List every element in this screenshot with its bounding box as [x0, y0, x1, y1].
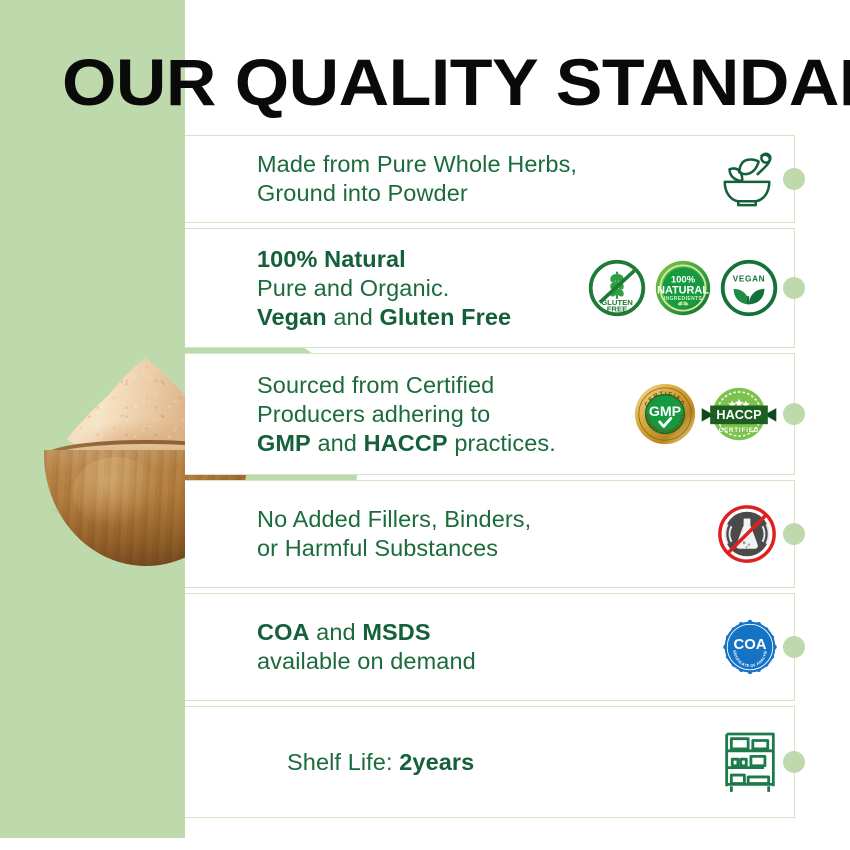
gmp-certified-badge: CERTIFIED GOOD MANUFACTURING PRACTICE GM…: [634, 383, 696, 445]
row1-line1: Made from Pure Whole Herbs,: [257, 151, 577, 177]
row5-and: and: [310, 619, 363, 645]
list-item-certified-producers: Sourced from Certified Producers adherin…: [185, 353, 795, 475]
haccp-certified-badge: HACCP CERTIFIED: [700, 383, 778, 445]
infographic-canvas: OUR QUALITY STANDARDS Made from Pure Who…: [0, 0, 850, 850]
row3-gmp: GMP: [257, 430, 311, 456]
row-text-no-fillers: No Added Fillers, Binders, or Harmful Su…: [257, 505, 716, 563]
page-title: OUR QUALITY STANDARDS: [62, 50, 850, 114]
row-text-pure-whole-herbs: Made from Pure Whole Herbs, Ground into …: [257, 150, 716, 208]
row-text-certified: Sourced from Certified Producers adherin…: [257, 371, 634, 458]
row1-icons: [716, 148, 784, 210]
svg-text:COA: COA: [733, 637, 766, 653]
row-end-dot: [783, 523, 805, 545]
row2-badges: GLUTEN FREE 100% NATURAL: [588, 259, 784, 317]
row5-badges: COA CERTIFICATE OF ANALYSIS: [722, 619, 784, 675]
row4-icons: [716, 503, 784, 565]
svg-text:HACCP: HACCP: [716, 407, 762, 422]
row-end-dot: [783, 168, 805, 190]
row-text-shelf-life: Shelf Life: 2years: [257, 748, 722, 777]
gluten-free-badge: GLUTEN FREE: [588, 259, 646, 317]
svg-text:FREE: FREE: [607, 305, 628, 314]
list-item-pure-whole-herbs: Made from Pure Whole Herbs, Ground into …: [185, 135, 795, 223]
svg-text:INGREDIENTS: INGREDIENTS: [664, 296, 703, 302]
list-item-natural-vegan-gluten-free: 100% Natural Pure and Organic. Vegan and…: [185, 228, 795, 348]
svg-text:CERTIFIED: CERTIFIED: [719, 428, 759, 434]
list-item-no-added-fillers: No Added Fillers, Binders, or Harmful Su…: [185, 480, 795, 588]
row-end-dot: [783, 403, 805, 425]
row6-label: Shelf Life:: [287, 749, 399, 775]
row-text-coa: COA and MSDS available on demand: [257, 618, 722, 676]
row3-haccp: HACCP: [364, 430, 448, 456]
row1-line2: Ground into Powder: [257, 180, 468, 206]
warehouse-shelf-icon: [722, 730, 778, 794]
row2-line2: Pure and Organic.: [257, 275, 449, 301]
coa-seal-badge: COA CERTIFICATE OF ANALYSIS: [722, 619, 778, 675]
row4-line1: No Added Fillers, Binders,: [257, 506, 531, 532]
row3-practices: practices.: [448, 430, 556, 456]
row6-value: 2years: [399, 749, 474, 775]
mortar-and-pestle-icon: [716, 148, 778, 210]
standards-list: Made from Pure Whole Herbs, Ground into …: [185, 135, 795, 823]
vegan-badge: VEGAN: [720, 259, 778, 317]
row2-line1: 100% Natural: [257, 246, 406, 272]
row5-line2: available on demand: [257, 648, 476, 674]
row5-msds: MSDS: [362, 619, 430, 645]
svg-text:GMP: GMP: [649, 404, 681, 420]
row3-line2: Producers adhering to: [257, 401, 490, 427]
no-chemicals-icon: [716, 503, 778, 565]
100-natural-ingredients-badge: 100% NATURAL INGREDIENTS: [654, 259, 712, 317]
row4-line2: or Harmful Substances: [257, 535, 498, 561]
list-item-shelf-life: Shelf Life: 2years: [185, 706, 795, 818]
svg-text:NATURAL: NATURAL: [657, 284, 709, 296]
row5-coa: COA: [257, 619, 310, 645]
row-end-dot: [783, 636, 805, 658]
row2-gluten-free: Gluten Free: [380, 304, 512, 330]
row3-line1: Sourced from Certified: [257, 372, 494, 398]
row3-and: and: [311, 430, 364, 456]
row-end-dot: [783, 277, 805, 299]
row2-vegan: Vegan: [257, 304, 327, 330]
row2-and: and: [327, 304, 380, 330]
row-text-natural: 100% Natural Pure and Organic. Vegan and…: [257, 245, 588, 332]
list-item-coa-msds: COA and MSDS available on demand: [185, 593, 795, 701]
svg-text:VEGAN: VEGAN: [733, 275, 766, 284]
row6-icons: [722, 730, 784, 794]
row-end-dot: [783, 751, 805, 773]
row3-badges: CERTIFIED GOOD MANUFACTURING PRACTICE GM…: [634, 383, 784, 445]
